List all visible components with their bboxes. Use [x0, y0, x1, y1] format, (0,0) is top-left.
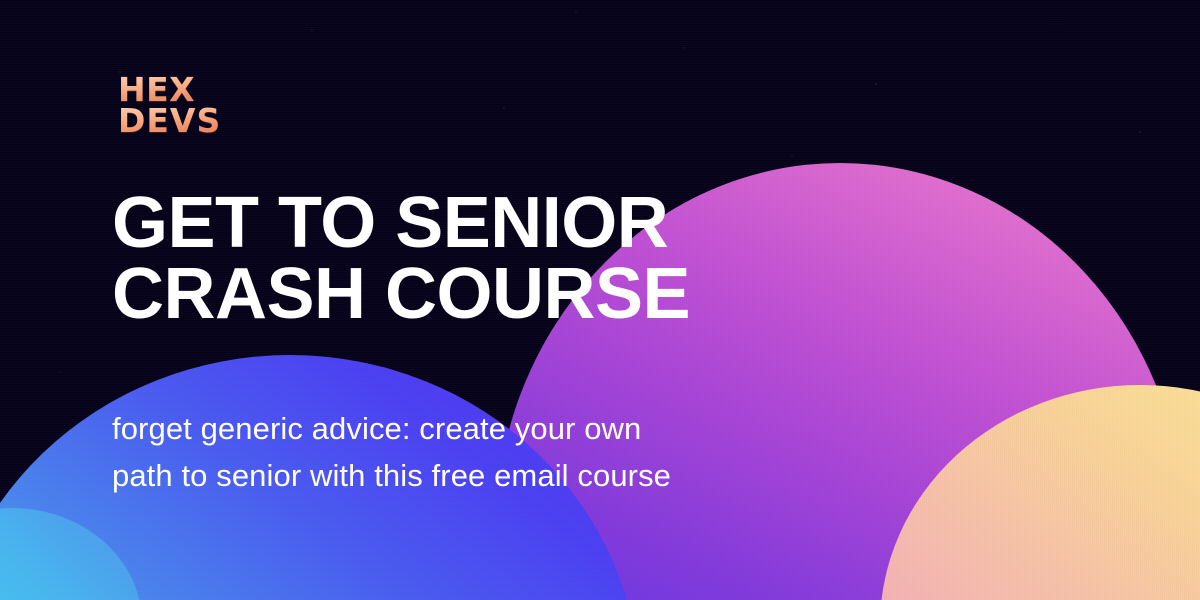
banner-content: HEX DEVS GET TO SENIOR CRASH COURSE forg… — [0, 0, 1200, 600]
subheadline-line-2: path to senior with this free email cour… — [112, 452, 671, 499]
hexdevs-logo[interactable]: HEX DEVS — [118, 74, 221, 136]
subheadline: forget generic advice: create your own p… — [112, 405, 671, 499]
headline-line-1: GET TO SENIOR — [112, 188, 690, 259]
headline-line-2: CRASH COURSE — [112, 259, 690, 330]
subheadline-line-1: forget generic advice: create your own — [112, 405, 671, 452]
headline: GET TO SENIOR CRASH COURSE — [112, 188, 690, 329]
logo-line-devs: DEVS — [118, 105, 221, 136]
promo-banner: HEX DEVS GET TO SENIOR CRASH COURSE forg… — [0, 0, 1200, 600]
